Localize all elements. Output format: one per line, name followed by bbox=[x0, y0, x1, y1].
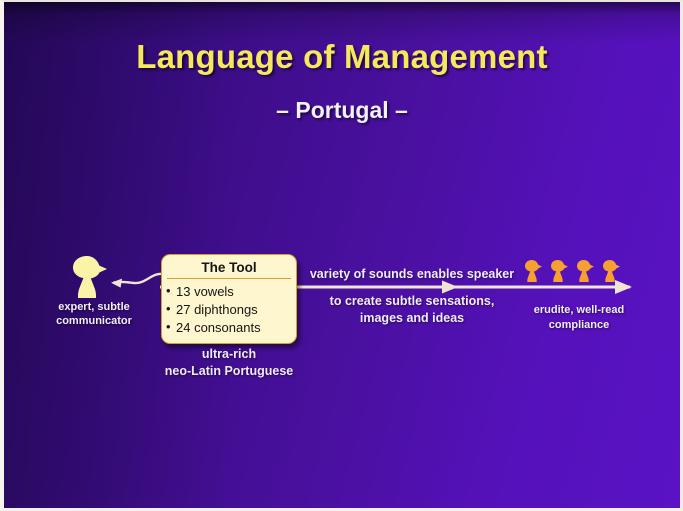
tool-caption-line1: ultra-rich bbox=[124, 346, 334, 363]
tool-caption-line2: neo-Latin Portuguese bbox=[124, 363, 334, 380]
audience-figure-icon bbox=[573, 259, 595, 283]
audience-figure-icon bbox=[521, 259, 543, 283]
tool-caption: ultra-rich neo-Latin Portuguese bbox=[124, 346, 334, 380]
audience-figure-icon bbox=[599, 259, 621, 283]
slide-canvas: Language of Management – Portugal – expe… bbox=[0, 0, 683, 511]
speaker-caption-line2: communicator bbox=[34, 314, 154, 328]
speaker-caption: expert, subtle communicator bbox=[34, 300, 154, 329]
tool-box-title: The Tool bbox=[167, 259, 291, 279]
flow-caption-bottom-line1: to create subtle sensations, bbox=[292, 293, 532, 310]
page-title: Language of Management bbox=[4, 38, 680, 76]
tool-list-item: 27 diphthongs bbox=[162, 301, 296, 319]
flow-caption-bottom: to create subtle sensations, images and … bbox=[292, 293, 532, 327]
tool-list-item: 24 consonants bbox=[162, 319, 296, 337]
curved-arrow-icon bbox=[108, 270, 166, 296]
audience-group bbox=[521, 259, 621, 283]
tool-list-item: 13 vowels bbox=[162, 283, 296, 301]
speaker-figure-icon bbox=[65, 254, 111, 300]
audience-caption-line1: erudite, well-read bbox=[499, 303, 659, 318]
flow-caption-bottom-line2: images and ideas bbox=[292, 310, 532, 327]
speaker-caption-line1: expert, subtle bbox=[34, 300, 154, 314]
audience-caption-line2: compliance bbox=[499, 318, 659, 333]
audience-caption: erudite, well-read compliance bbox=[499, 303, 659, 332]
audience-figure-icon bbox=[547, 259, 569, 283]
flow-caption-top: variety of sounds enables speaker bbox=[292, 267, 532, 281]
tool-box: The Tool 13 vowels 27 diphthongs 24 cons… bbox=[161, 254, 297, 344]
page-subtitle: – Portugal – bbox=[4, 97, 680, 124]
